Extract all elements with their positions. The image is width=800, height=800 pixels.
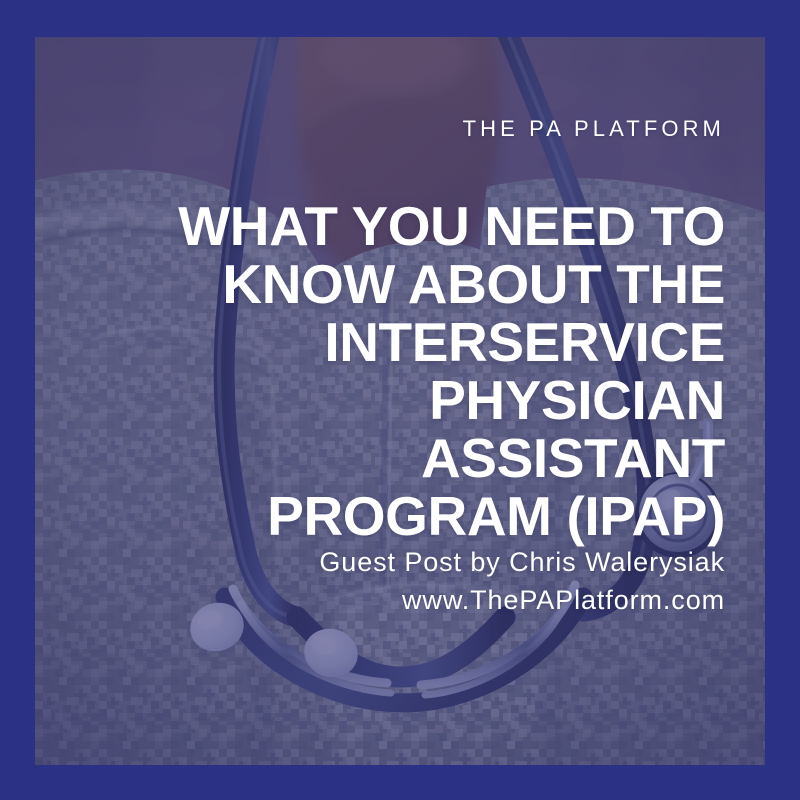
background-photo (35, 37, 765, 765)
photo-illustration (35, 37, 765, 765)
promotional-graphic-card: THE PA PLATFORM WHAT YOU NEED TO KNOW AB… (0, 0, 800, 800)
